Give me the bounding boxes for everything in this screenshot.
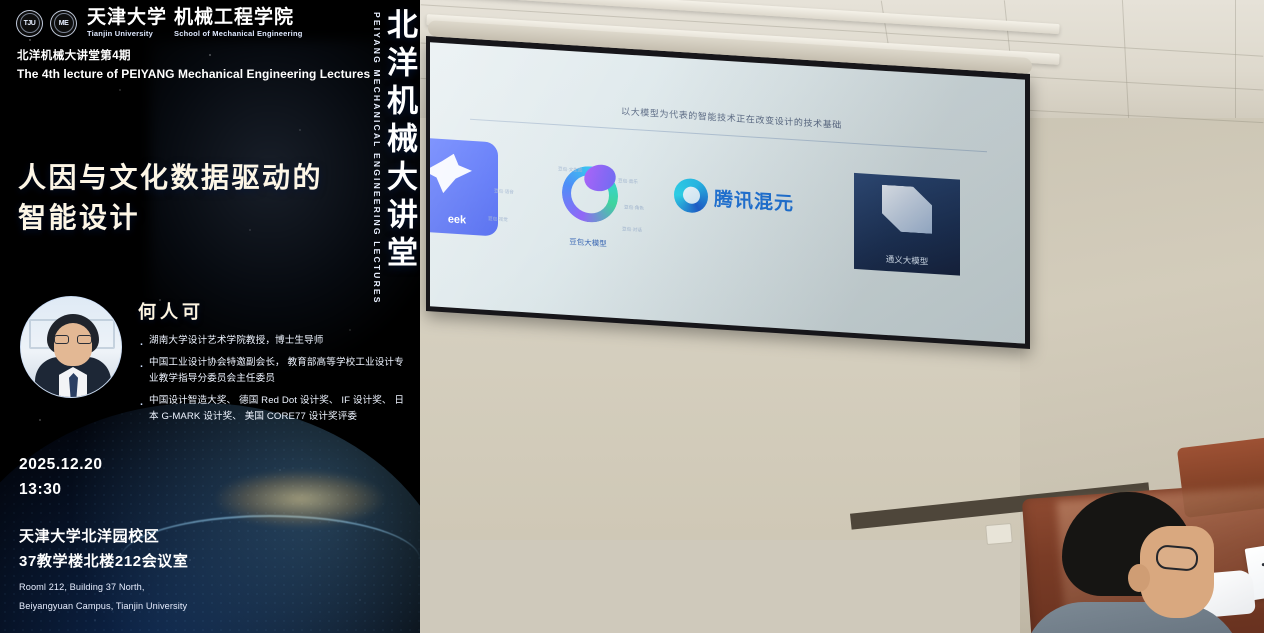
portrait-glasses-icon	[54, 335, 92, 344]
hunyuan-mark-glyph	[674, 178, 708, 214]
banner-text-en: PEIYANG MECHANICAL ENGINEERING LECTURES	[373, 12, 382, 305]
lecture-room-photo: 以大模型为代表的智能技术正在改变设计的技术基础 eek 豆包·语音 豆包·视觉 …	[420, 0, 1264, 633]
doubao-callout: 豆包·文生图	[558, 166, 583, 174]
speaker-details: 何人可 湖南大学设计艺术学院教授，博士生导师 中国工业设计协会特邀副会长， 教育…	[138, 296, 410, 431]
series-label-cn: 北洋机械大讲堂第4期	[17, 48, 370, 65]
university-name-en: Tianjin University	[87, 30, 167, 38]
university-name-cn: 天津大学	[87, 8, 167, 28]
school-name-en: School of Mechanical Engineering	[174, 30, 303, 38]
seal-1-label: TJU	[24, 20, 36, 27]
attendee-face	[1140, 526, 1214, 618]
doubao-callout: 豆包·视觉	[488, 216, 508, 223]
speaker-name: 何人可	[138, 298, 410, 324]
school-of-mechanical-engineering-seal-icon: ME	[50, 10, 77, 37]
school-name-cn: 机械工程学院	[174, 8, 303, 28]
deepseek-whale-glyph	[430, 152, 472, 195]
slide-title: 以大模型为代表的智能技术正在改变设计的技术基础	[478, 95, 985, 140]
doubao-callout: 豆包·对话	[622, 226, 642, 233]
event-poster: TJU ME 天津大学 Tianjin University 机械工程学院 Sc…	[0, 0, 420, 633]
banner-text-cn: 北洋机械大讲堂	[382, 8, 415, 274]
tencent-hunyuan-logo-icon: 腾讯混元	[674, 178, 794, 220]
list-item: 湖南大学设计艺术学院教授，博士生导师	[138, 333, 410, 350]
tongyi-label: 通义大模型	[854, 251, 960, 270]
tongyi-mark-glyph	[882, 185, 932, 234]
seal-2-label: ME	[59, 20, 69, 27]
globe-glow-decoration	[215, 470, 385, 528]
wall-outlet	[985, 523, 1013, 545]
speaker-section: 何人可 湖南大学设计艺术学院教授，博士生导师 中国工业设计协会特邀副会长， 教育…	[20, 296, 410, 431]
event-datetime: 2025.12.20 13:30	[19, 452, 103, 502]
projection-screen: 以大模型为代表的智能技术正在改变设计的技术基础 eek 豆包·语音 豆包·视觉 …	[426, 36, 1030, 349]
portrait-tie	[69, 373, 78, 398]
doubao-callout: 豆包·音乐	[618, 178, 638, 185]
title-line-2: 智能设计	[18, 198, 323, 238]
title-line-1: 人因与文化数据驱动的	[18, 158, 323, 198]
tianjin-university-seal-icon: TJU	[16, 10, 43, 37]
screenshot-root: TJU ME 天津大学 Tianjin University 机械工程学院 Sc…	[0, 0, 1264, 633]
university-wordmark: 天津大学 Tianjin University 机械工程学院 School of…	[87, 8, 303, 38]
venue-cn-line-2: 37教学楼北楼212会议室	[19, 550, 349, 575]
speaker-credentials-list: 湖南大学设计艺术学院教授，博士生导师 中国工业设计协会特邀副会长， 教育部高等学…	[138, 333, 410, 426]
attendee-glasses-icon	[1155, 544, 1199, 572]
venue-en-line-2: Beiyangyuan Campus, Tianjin University	[19, 600, 349, 614]
list-item: 中国设计智造大奖、 德国 Red Dot 设计奖、 IF 设计奖、 日本 G-M…	[138, 393, 410, 426]
deepseek-label: eek	[448, 213, 466, 226]
vertical-series-banner: PEIYANG MECHANICAL ENGINEERING LECTURES …	[373, 8, 415, 308]
lecture-series-label: 北洋机械大讲堂第4期 The 4th lecture of PEIYANG Me…	[17, 48, 370, 83]
event-time: 13:30	[19, 477, 103, 502]
event-date: 2025.12.20	[19, 452, 103, 477]
attendee-shoulders	[1024, 602, 1244, 633]
projected-slide: 以大模型为代表的智能技术正在改变设计的技术基础 eek 豆包·语音 豆包·视觉 …	[430, 42, 1025, 343]
tongyi-logo-icon: 通义大模型	[854, 173, 960, 276]
seated-attendee-foreground	[1044, 492, 1234, 633]
event-venue: 天津大学北洋园校区 37教学楼北楼212会议室 Rooml 212, Build…	[19, 525, 349, 614]
poster-title: 人因与文化数据驱动的 智能设计	[18, 158, 323, 238]
doubao-callout: 豆包·语音	[494, 188, 514, 195]
portrait-face	[54, 323, 92, 366]
series-label-en: The 4th lecture of PEIYANG Mechanical En…	[17, 65, 370, 83]
hunyuan-label: 腾讯混元	[714, 184, 794, 216]
poster-logo-header: TJU ME 天津大学 Tianjin University 机械工程学院 Sc…	[16, 8, 303, 38]
venue-cn-line-1: 天津大学北洋园校区	[19, 525, 349, 550]
doubao-label: 豆包大模型	[540, 234, 636, 251]
attendee-ear	[1128, 564, 1150, 592]
venue-en-line-1: Rooml 212, Building 37 North,	[19, 581, 349, 595]
doubao-callout: 豆包·角色	[624, 204, 644, 211]
speaker-portrait-avatar	[20, 296, 122, 398]
list-item: 中国工业设计协会特邀副会长， 教育部高等学校工业设计专业教学指导分委员会主任委员	[138, 355, 410, 388]
doubao-logo-icon: 豆包·语音 豆包·视觉 豆包·文生图 豆包·音乐 豆包·角色 豆包·对话 豆包大…	[540, 157, 636, 255]
